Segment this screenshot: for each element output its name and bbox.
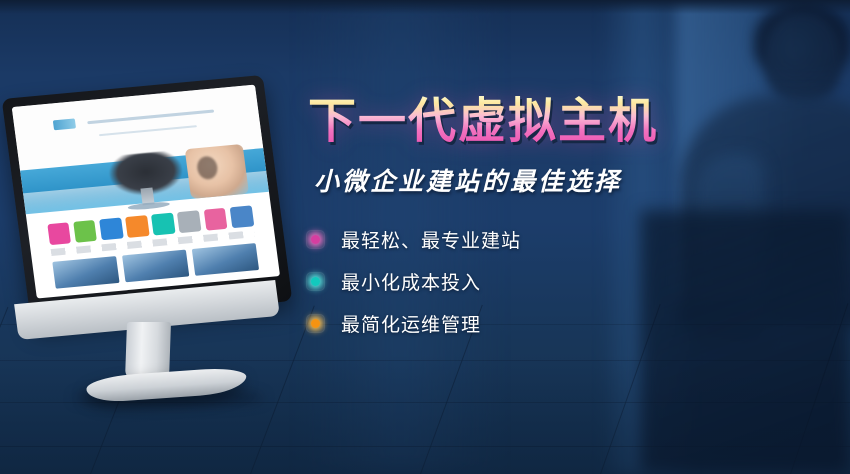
- bullet-core: [311, 319, 320, 328]
- banner-subheadline: 小微企业建站的最佳选择: [314, 162, 720, 198]
- site-hero-person-photo: [185, 144, 250, 199]
- feature-label: 最小化成本投入: [341, 268, 481, 295]
- site-icon-3: [99, 217, 123, 240]
- bullet-dot-magenta-icon: [306, 230, 325, 249]
- feature-item-3: 最简化运维管理: [306, 310, 720, 337]
- feature-list: 最轻松、最专业建站最小化成本投入最简化运维管理: [306, 226, 720, 337]
- site-thumbnail-1: [52, 256, 120, 289]
- monitor-screen: [12, 85, 280, 299]
- bullet-dot-teal-icon: [306, 272, 325, 291]
- feature-item-2: 最小化成本投入: [306, 268, 720, 295]
- site-icon-4: [125, 215, 149, 238]
- monitor-mockup: [8, 86, 298, 386]
- bullet-dot-orange-icon: [306, 314, 325, 333]
- bullet-core: [311, 277, 320, 286]
- feature-label: 最轻松、最专业建站: [341, 226, 521, 253]
- banner-text-block: 下一代虚拟主机 小微企业建站的最佳选择 最轻松、最专业建站最小化成本投入最简化运…: [300, 96, 720, 352]
- site-icon-2: [73, 220, 97, 243]
- site-thumbnail-2: [122, 250, 190, 283]
- site-icon-5: [151, 212, 175, 235]
- site-icon-6: [177, 210, 201, 233]
- feature-label: 最简化运维管理: [341, 310, 481, 337]
- site-icon-1: [47, 222, 71, 245]
- person-head: [764, 12, 842, 104]
- site-icon-7: [203, 207, 227, 230]
- feature-item-1: 最轻松、最专业建站: [306, 226, 720, 253]
- banner-stage: 下一代虚拟主机 小微企业建站的最佳选择 最轻松、最专业建站最小化成本投入最简化运…: [0, 0, 850, 474]
- site-thumbnail-3: [192, 243, 260, 276]
- banner-headline: 下一代虚拟主机: [308, 96, 720, 148]
- bullet-core: [311, 235, 320, 244]
- background-top-strip: [0, 0, 850, 14]
- site-icon-8: [229, 205, 253, 228]
